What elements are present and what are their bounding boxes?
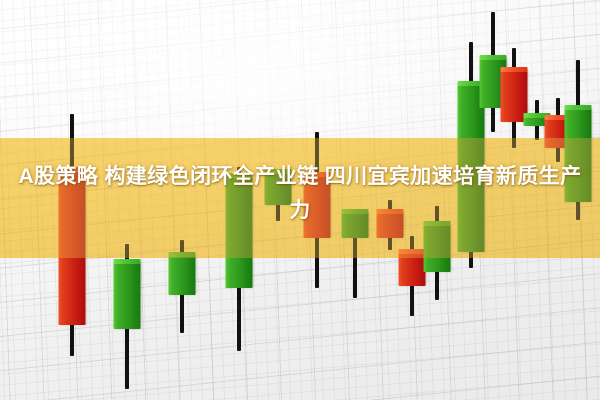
candle-body-up bbox=[114, 262, 141, 329]
candle-body-cap bbox=[565, 105, 592, 110]
candle-body-up bbox=[169, 255, 196, 295]
candle-body-cap bbox=[114, 259, 141, 264]
candlestick-banner-image: A股策略 构建绿色闭环全产业链 四川宜宾加速培育新质生产力 bbox=[0, 0, 600, 400]
candle-body-cap bbox=[480, 55, 507, 60]
candle-body-cap bbox=[501, 67, 528, 72]
headline-text: A股策略 构建绿色闭环全产业链 四川宜宾加速培育新质生产力 bbox=[0, 160, 600, 228]
